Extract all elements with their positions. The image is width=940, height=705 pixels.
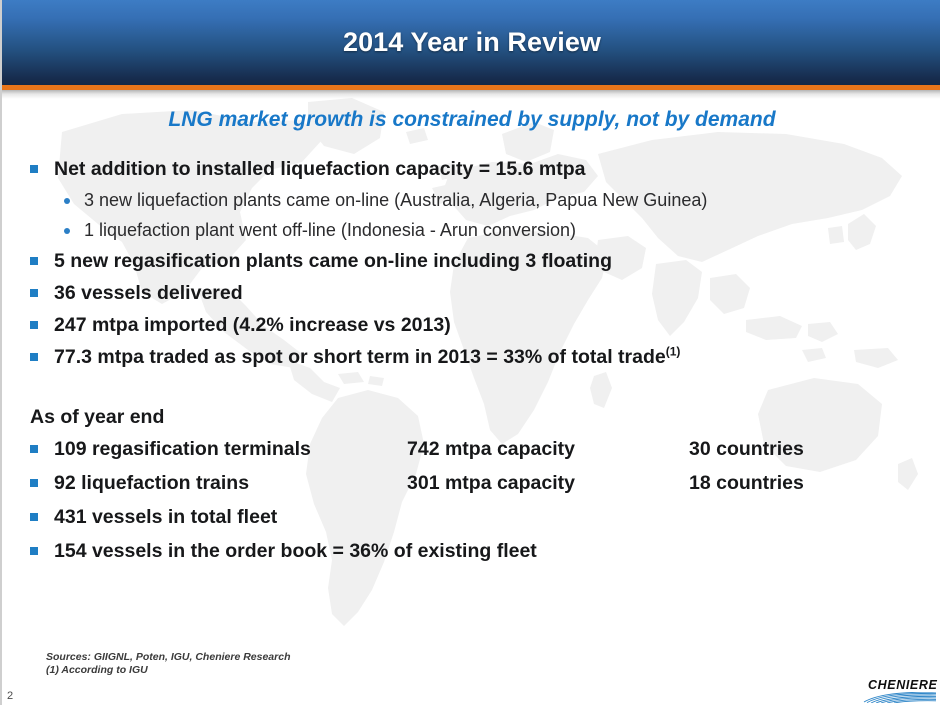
page-number: 2: [7, 690, 13, 702]
header-shadow: [2, 90, 940, 99]
bullet-text: 77.3 mtpa traded as spot or short term i…: [54, 346, 666, 368]
bullet-text: 5 new regasification plants came on-line…: [54, 250, 612, 272]
footnotes: Sources: GIIGNL, Poten, IGU, Cheniere Re…: [46, 651, 290, 677]
sub-bullet-text: 3 new liquefaction plants came on-line (…: [84, 190, 707, 210]
row-col1: 92 liquefaction trains: [54, 472, 249, 494]
square-bullet-icon: [30, 445, 38, 453]
row-col1: 431 vessels in total fleet: [54, 506, 277, 528]
square-bullet-icon: [30, 165, 38, 173]
square-bullet-icon: [30, 547, 38, 555]
dot-bullet-icon: [64, 228, 70, 234]
table-row: 109 regasification terminals 742 mtpa ca…: [2, 436, 940, 462]
table-row: 431 vessels in total fleet: [2, 504, 940, 530]
slide-subtitle: LNG market growth is constrained by supp…: [2, 108, 940, 132]
row-col1: 154 vessels in the order book = 36% of e…: [54, 540, 537, 562]
bullet-text: 247 mtpa imported (4.2% increase vs 2013…: [54, 314, 451, 336]
square-bullet-icon: [30, 479, 38, 487]
bullet-item: Net addition to installed liquefaction c…: [2, 156, 940, 182]
table-row: 92 liquefaction trains 301 mtpa capacity…: [2, 470, 940, 496]
row-col2: 742 mtpa capacity: [407, 436, 575, 462]
slide-body: Net addition to installed liquefaction c…: [2, 156, 940, 572]
row-col3: 18 countries: [689, 470, 804, 496]
logo-wordmark: CHENIERE: [868, 678, 937, 692]
footnote-marker: (1): [666, 345, 681, 359]
section-heading: As of year end: [2, 404, 940, 430]
cheniere-logo: CHENIERE: [862, 678, 938, 703]
square-bullet-icon: [30, 321, 38, 329]
sub-bullet-item: 3 new liquefaction plants came on-line (…: [2, 188, 940, 213]
bullet-item: 36 vessels delivered: [2, 280, 940, 306]
dot-bullet-icon: [64, 198, 70, 204]
bullet-item: 247 mtpa imported (4.2% increase vs 2013…: [2, 312, 940, 338]
bullet-item-spot-trade: 77.3 mtpa traded as spot or short term i…: [2, 344, 940, 370]
square-bullet-icon: [30, 257, 38, 265]
table-row: 154 vessels in the order book = 36% of e…: [2, 538, 940, 564]
row-col3: 30 countries: [689, 436, 804, 462]
square-bullet-icon: [30, 289, 38, 297]
row-col2: 301 mtpa capacity: [407, 470, 575, 496]
sub-bullet-text: 1 liquefaction plant went off-line (Indo…: [84, 220, 576, 240]
header-accent-line: [2, 85, 940, 90]
sub-bullet-item: 1 liquefaction plant went off-line (Indo…: [2, 218, 940, 243]
square-bullet-icon: [30, 353, 38, 361]
bullet-text: Net addition to installed liquefaction c…: [54, 158, 586, 180]
square-bullet-icon: [30, 513, 38, 521]
page-title: 2014 Year in Review: [2, 0, 940, 85]
footnote-note1: (1) According to IGU: [46, 664, 290, 677]
footnote-sources: Sources: GIIGNL, Poten, IGU, Cheniere Re…: [46, 651, 290, 664]
bullet-text: 36 vessels delivered: [54, 282, 243, 304]
bullet-item: 5 new regasification plants came on-line…: [2, 248, 940, 274]
logo-wave-icon: [862, 692, 938, 703]
header-bar: 2014 Year in Review: [2, 0, 940, 85]
section-spacer: [2, 376, 940, 404]
row-col1: 109 regasification terminals: [54, 438, 311, 460]
slide: 2014 Year in Review LNG market growth is…: [0, 0, 940, 705]
